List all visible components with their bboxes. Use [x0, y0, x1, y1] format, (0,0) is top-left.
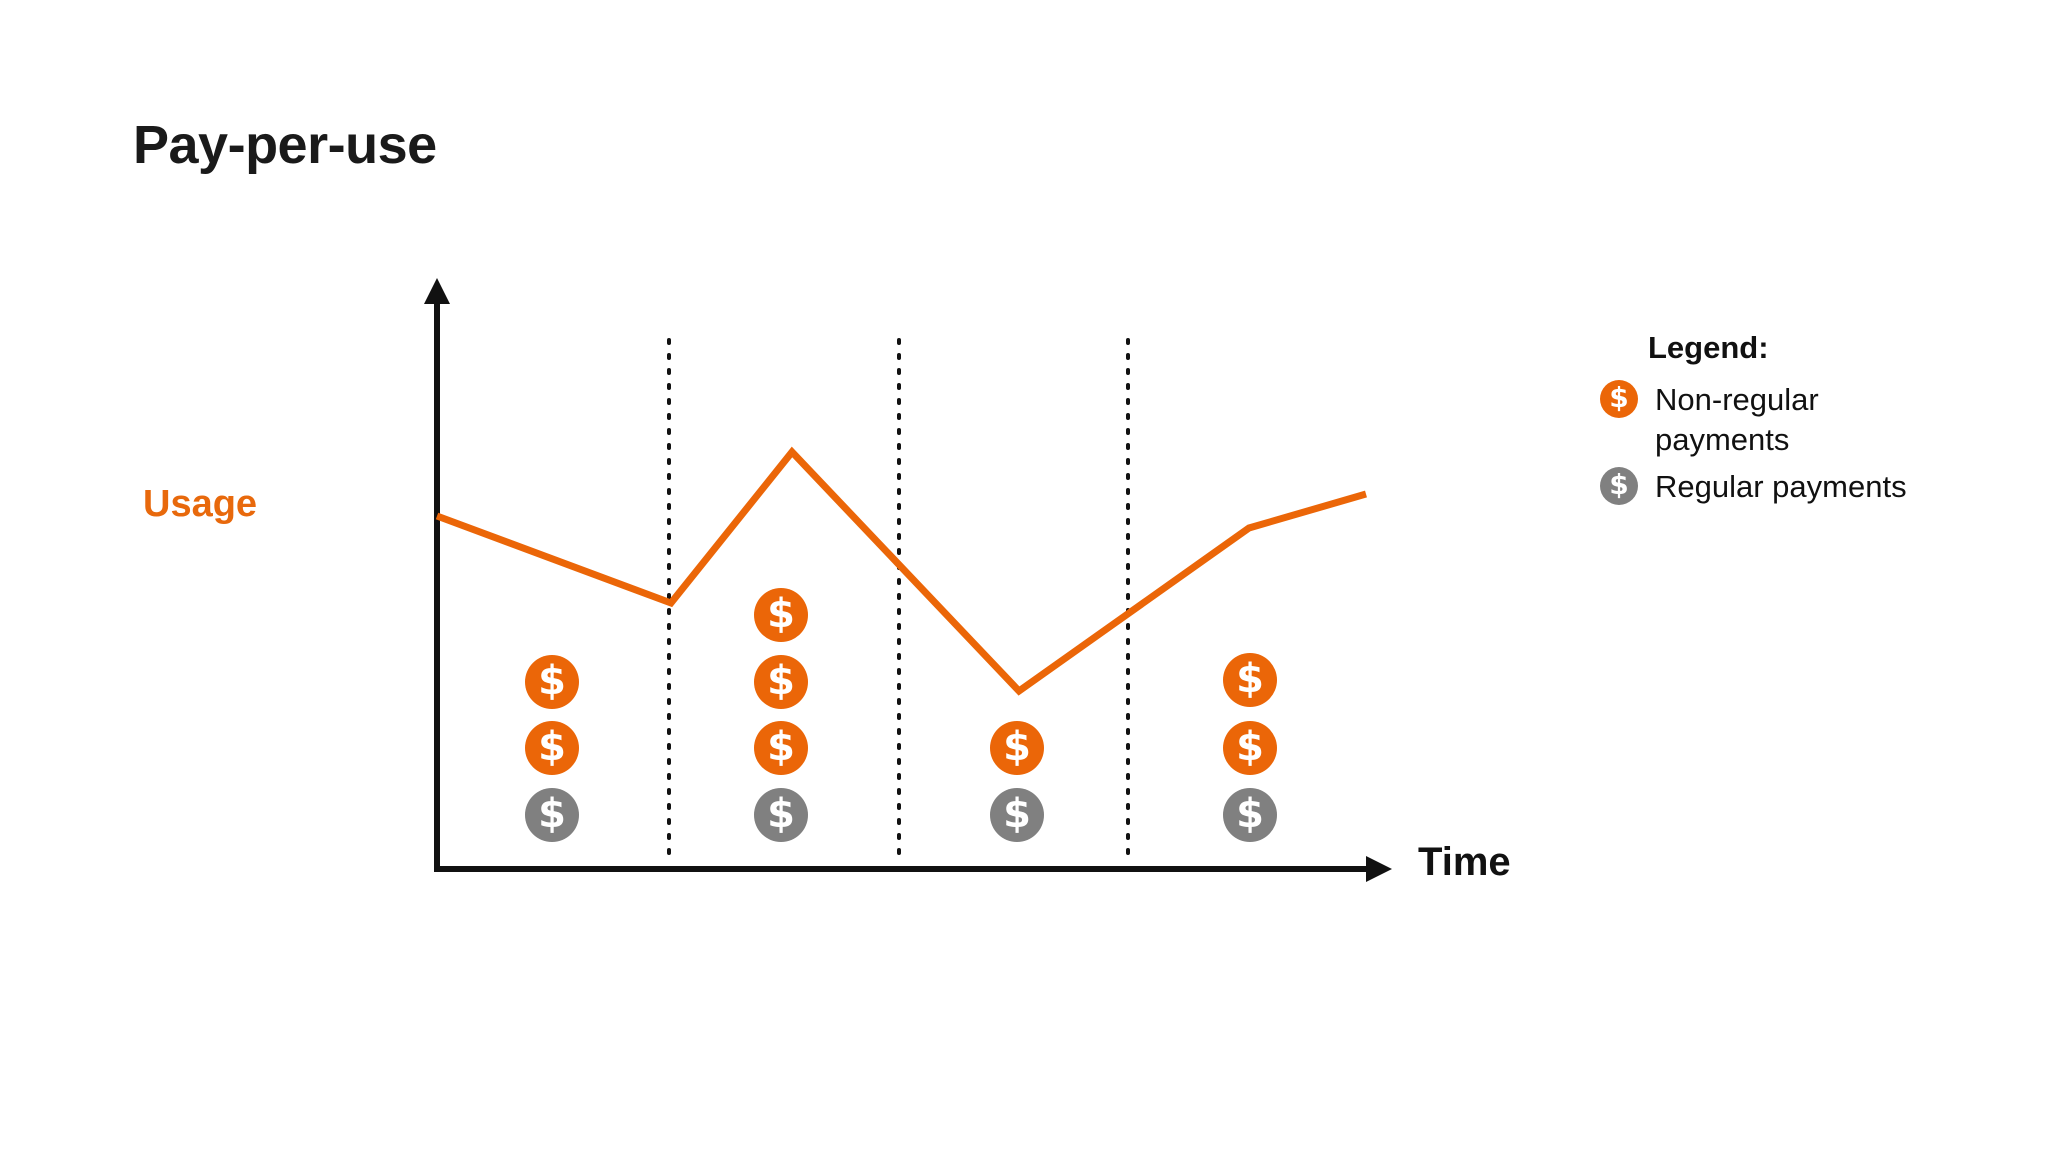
coin-nonregular-p1-2: $ — [525, 721, 579, 775]
dollar-glyph: $ — [767, 594, 795, 634]
legend-item-non-regular-payments: $ Non-regular payments — [1600, 380, 1885, 459]
dollar-glyph: $ — [538, 661, 566, 701]
dollar-glyph: $ — [1236, 794, 1264, 834]
dollar-glyph: $ — [767, 794, 795, 834]
dollar-glyph: $ — [1236, 727, 1264, 767]
coin-nonregular-p4-1: $ — [1223, 653, 1277, 707]
y-axis-label: Usage — [143, 483, 257, 526]
dollar-glyph: $ — [767, 727, 795, 767]
dollar-glyph: $ — [538, 727, 566, 767]
coin-nonregular-p2-1: $ — [754, 588, 808, 642]
legend-title: Legend: — [1648, 330, 1769, 366]
x-axis-label: Time — [1418, 840, 1511, 885]
legend-item-label: Non-regular payments — [1655, 380, 1885, 459]
dollar-glyph: $ — [767, 661, 795, 701]
y-axis — [424, 278, 450, 872]
coin-regular-p3-1: $ — [990, 788, 1044, 842]
dollar-glyph: $ — [1609, 384, 1628, 412]
x-axis — [437, 856, 1392, 882]
coin-nonregular-p1-1: $ — [525, 655, 579, 709]
coin-nonregular-p2-3: $ — [754, 721, 808, 775]
legend-item-regular-payments: $ Regular payments — [1600, 467, 1907, 507]
pay-per-use-chart: Usage Time $ $ $ $ $ $ $ $ $ $ $ $ — [0, 0, 2048, 1152]
dollar-coin-icon: $ — [1600, 380, 1638, 418]
coin-regular-p1-1: $ — [525, 788, 579, 842]
coin-nonregular-p3-1: $ — [990, 721, 1044, 775]
dollar-glyph: $ — [538, 794, 566, 834]
usage-line — [437, 452, 1366, 691]
legend-item-label: Regular payments — [1655, 467, 1907, 507]
dollar-glyph: $ — [1003, 794, 1031, 834]
coin-regular-p2-1: $ — [754, 788, 808, 842]
dollar-glyph: $ — [1003, 727, 1031, 767]
dollar-coin-icon: $ — [1600, 467, 1638, 505]
coin-nonregular-p2-2: $ — [754, 655, 808, 709]
period-divider-lines — [669, 340, 1128, 864]
dollar-glyph: $ — [1609, 471, 1628, 499]
chart-canvas — [0, 0, 2048, 1152]
coin-regular-p4-1: $ — [1223, 788, 1277, 842]
dollar-glyph: $ — [1236, 659, 1264, 699]
coin-nonregular-p4-2: $ — [1223, 721, 1277, 775]
